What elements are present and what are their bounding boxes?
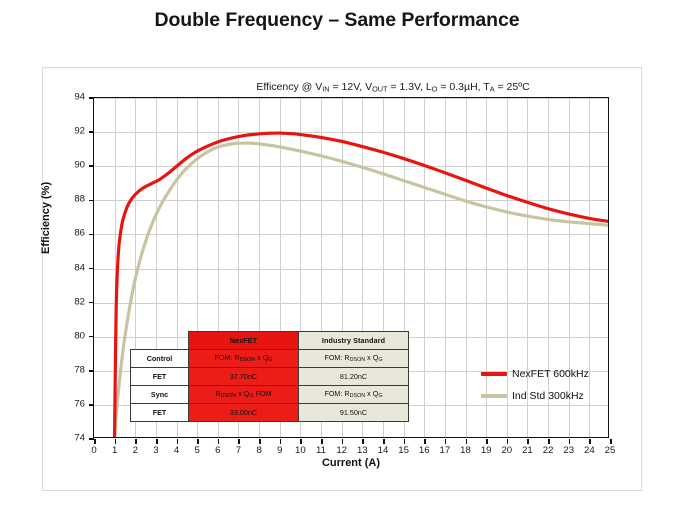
row-header-control-fet-line2: FET	[131, 368, 189, 386]
legend-swatch-icon	[481, 372, 507, 375]
x-tick-mark	[527, 439, 529, 444]
y-tick-label: 88	[51, 194, 85, 205]
sub-dson: DSON	[221, 393, 237, 399]
metric-mid: x Q	[255, 353, 268, 362]
metric-mid: x Q	[365, 389, 378, 398]
x-tick-mark	[486, 439, 488, 444]
legend-item[interactable]: NexFET 600kHz	[481, 363, 589, 385]
row-header-control-fet: Control	[131, 350, 189, 368]
subtitle-sub-vout: OUT	[372, 85, 387, 94]
y-tick-label: 90	[51, 160, 85, 171]
metric-suffix: FOM	[254, 389, 272, 398]
x-tick-mark	[321, 439, 323, 444]
metric-mid: x Q	[236, 389, 249, 398]
cell-indstd-control-value: 81.20nC	[299, 368, 409, 386]
y-tick-label: 78	[51, 364, 85, 375]
row-header-sync-fet-line2: FET	[131, 404, 189, 422]
y-tick-mark	[89, 336, 94, 338]
x-tick-mark	[342, 439, 344, 444]
x-tick-mark	[300, 439, 302, 444]
subtitle-mid3: = 0.3µH, T	[437, 81, 489, 93]
y-tick-mark	[89, 234, 94, 236]
x-tick-mark	[383, 439, 385, 444]
x-tick-mark	[218, 439, 220, 444]
table-header-row: NexFET Industry Standard	[131, 332, 409, 350]
y-tick-label: 86	[51, 228, 85, 239]
y-tick-mark	[89, 200, 94, 202]
y-tick-mark	[89, 438, 94, 440]
x-tick-mark	[445, 439, 447, 444]
x-tick-mark	[589, 439, 591, 444]
comparison-table: NexFET Industry Standard Control FOM: RD…	[130, 331, 409, 422]
x-tick-mark	[362, 439, 364, 444]
cell-nexfet-sync-metric: RDSON x QG FOM	[189, 386, 299, 404]
x-tick-mark	[569, 439, 571, 444]
table-row: FET 37.70nC 81.20nC	[131, 368, 409, 386]
y-tick-mark	[89, 165, 94, 167]
metric-text: FOM: R	[214, 353, 239, 362]
x-tick-mark	[156, 439, 158, 444]
sub-dson: DSON	[350, 393, 366, 399]
table-row: Sync RDSON x QG FOM FOM: RDSON x QG	[131, 386, 409, 404]
sub-g: G	[378, 393, 382, 399]
subtitle-sub-vin: IN	[322, 85, 329, 94]
y-tick-label: 92	[51, 126, 85, 137]
y-tick-mark	[89, 97, 94, 99]
y-tick-mark	[89, 131, 94, 133]
x-tick-mark	[404, 439, 406, 444]
x-tick-mark	[424, 439, 426, 444]
cell-nexfet-control-metric: FOM: RDSON x QG	[189, 350, 299, 368]
metric-text: FOM: R	[324, 389, 349, 398]
y-axis-title: Efficiency (%)	[40, 182, 52, 254]
slide-root: Double Frequency – Same Performance Effi…	[0, 0, 674, 506]
y-tick-label: 84	[51, 262, 85, 273]
cell-indstd-sync-value: 91.50nC	[299, 404, 409, 422]
y-tick-mark	[89, 302, 94, 304]
table-header-nexfet: NexFET	[189, 332, 299, 350]
subtitle-mid2: = 1.3V, L	[387, 81, 431, 93]
legend-label: NexFET 600kHz	[512, 368, 589, 380]
x-tick-mark	[94, 439, 96, 444]
x-tick-mark	[610, 439, 612, 444]
legend-label: Ind Std 300kHz	[512, 390, 584, 402]
y-tick-mark	[89, 370, 94, 372]
cell-indstd-sync-metric: FOM: RDSON x QG	[299, 386, 409, 404]
sub-dson: DSON	[240, 357, 256, 363]
x-tick-mark	[507, 439, 509, 444]
subtitle-tail: = 25ºC	[495, 81, 530, 93]
x-tick-mark	[177, 439, 179, 444]
sub-g: G	[378, 357, 382, 363]
cell-nexfet-sync-value: 33.00nC	[189, 404, 299, 422]
y-tick-mark	[89, 404, 94, 406]
x-tick-label: 25	[596, 445, 624, 456]
x-tick-mark	[197, 439, 199, 444]
y-tick-label: 80	[51, 330, 85, 341]
table-header-industry-standard: Industry Standard	[299, 332, 409, 350]
metric-mid: x Q	[365, 353, 378, 362]
x-tick-mark	[238, 439, 240, 444]
y-tick-label: 74	[51, 433, 85, 444]
x-tick-mark	[466, 439, 468, 444]
table-corner-cell	[131, 332, 189, 350]
subtitle-mid1: = 12V, V	[330, 81, 373, 93]
chart-frame: Efficency @ VIN = 12V, VOUT = 1.3V, LO =…	[42, 67, 642, 491]
legend-item[interactable]: Ind Std 300kHz	[481, 385, 589, 407]
y-tick-label: 76	[51, 398, 85, 409]
sub-g: G	[268, 357, 272, 363]
x-axis-title: Current (A)	[93, 457, 609, 469]
y-tick-label: 82	[51, 296, 85, 307]
metric-text: FOM: R	[324, 353, 349, 362]
chart-legend: NexFET 600kHzInd Std 300kHz	[481, 363, 589, 407]
x-tick-mark	[280, 439, 282, 444]
subtitle-lead: Efficency @ V	[256, 81, 322, 93]
table-row: FET 33.00nC 91.50nC	[131, 404, 409, 422]
row-header-sync-fet: Sync	[131, 386, 189, 404]
x-tick-mark	[259, 439, 261, 444]
chart-subtitle: Efficency @ VIN = 12V, VOUT = 1.3V, LO =…	[135, 81, 651, 94]
x-tick-mark	[115, 439, 117, 444]
sub-dson: DSON	[350, 357, 366, 363]
y-tick-label: 94	[51, 92, 85, 103]
table-row: Control FOM: RDSON x QG FOM: RDSON x QG	[131, 350, 409, 368]
x-tick-mark	[135, 439, 137, 444]
cell-nexfet-control-value: 37.70nC	[189, 368, 299, 386]
x-tick-mark	[548, 439, 550, 444]
page-title: Double Frequency – Same Performance	[0, 9, 674, 32]
legend-swatch-icon	[481, 394, 507, 397]
cell-indstd-control-metric: FOM: RDSON x QG	[299, 350, 409, 368]
y-tick-mark	[89, 268, 94, 270]
